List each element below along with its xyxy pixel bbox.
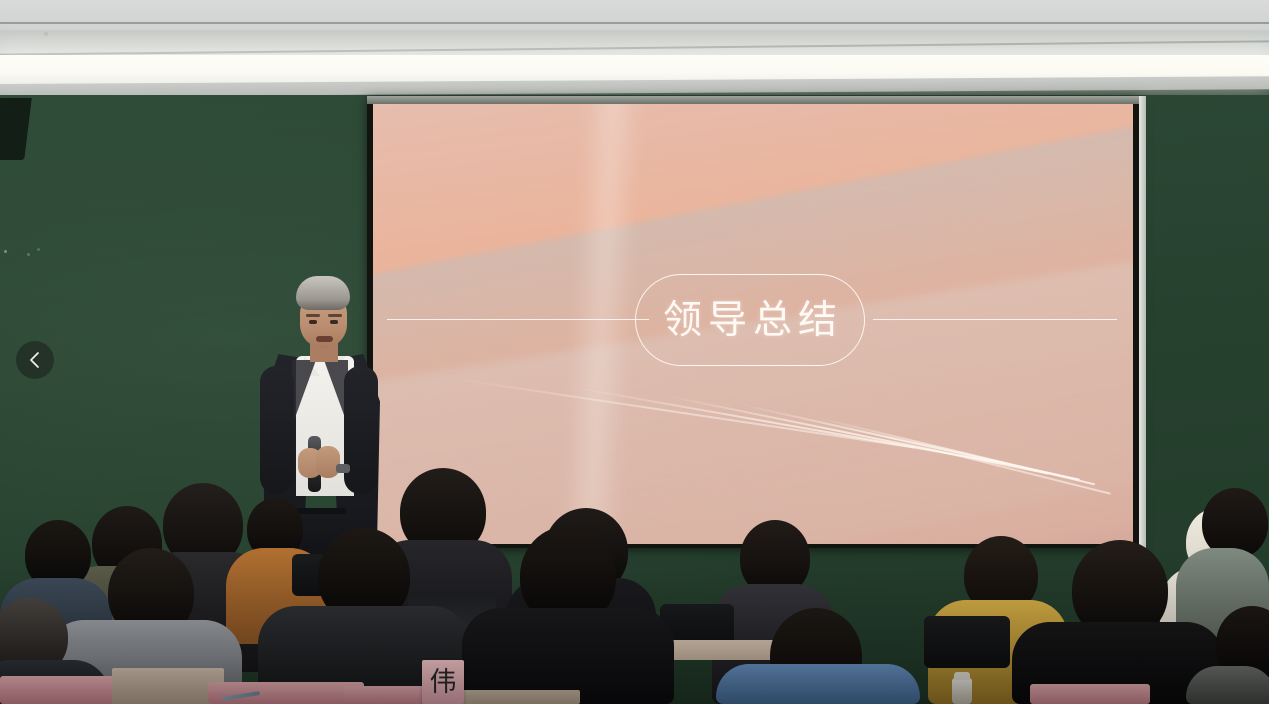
presenter-eye <box>309 320 317 324</box>
slide-rule-left <box>387 319 649 320</box>
bottle-cap <box>954 672 970 680</box>
wall-marking <box>27 253 30 256</box>
presenter-sleeve <box>344 366 378 494</box>
slide-rule-right <box>873 319 1117 320</box>
presenter-hair <box>296 276 350 310</box>
table-surface <box>1030 684 1150 704</box>
wall-marking <box>37 248 40 251</box>
slide-title: 领导总结 <box>657 301 843 340</box>
slide-title-pill: 领导总结 <box>635 274 865 366</box>
table-surface <box>452 690 580 704</box>
presenter-hand <box>316 446 340 478</box>
presenter-eye <box>330 320 338 324</box>
previous-image-button[interactable] <box>16 341 54 379</box>
chair-back <box>924 616 1010 668</box>
projection-screen-top-rail <box>367 96 1139 104</box>
ceiling-fixture-screw <box>44 32 48 36</box>
presenter-mouth <box>316 336 333 342</box>
presenter-eyebrow <box>306 314 320 317</box>
presenter-sleeve <box>260 366 294 494</box>
attendee-body <box>1186 666 1269 704</box>
wall-marking <box>4 250 7 253</box>
attendee-body <box>716 664 920 704</box>
table-surface <box>208 682 364 704</box>
name-placard: 伟 <box>422 660 464 704</box>
presentation-slide: 领导总结 <box>373 104 1133 544</box>
presenter-wristwatch <box>336 464 350 473</box>
chevron-left-icon <box>28 351 43 369</box>
table-surface <box>656 640 776 660</box>
table-surface <box>0 676 126 704</box>
photo-viewer-stage: 领导总结 <box>0 0 1269 704</box>
presenter-lapel <box>292 360 316 426</box>
name-placard-text: 伟 <box>430 669 457 696</box>
projection-screen-frame: 领导总结 <box>367 96 1139 548</box>
presenter-eyebrow <box>328 314 342 317</box>
water-bottle <box>952 678 972 704</box>
ceiling-seam <box>0 22 1269 24</box>
